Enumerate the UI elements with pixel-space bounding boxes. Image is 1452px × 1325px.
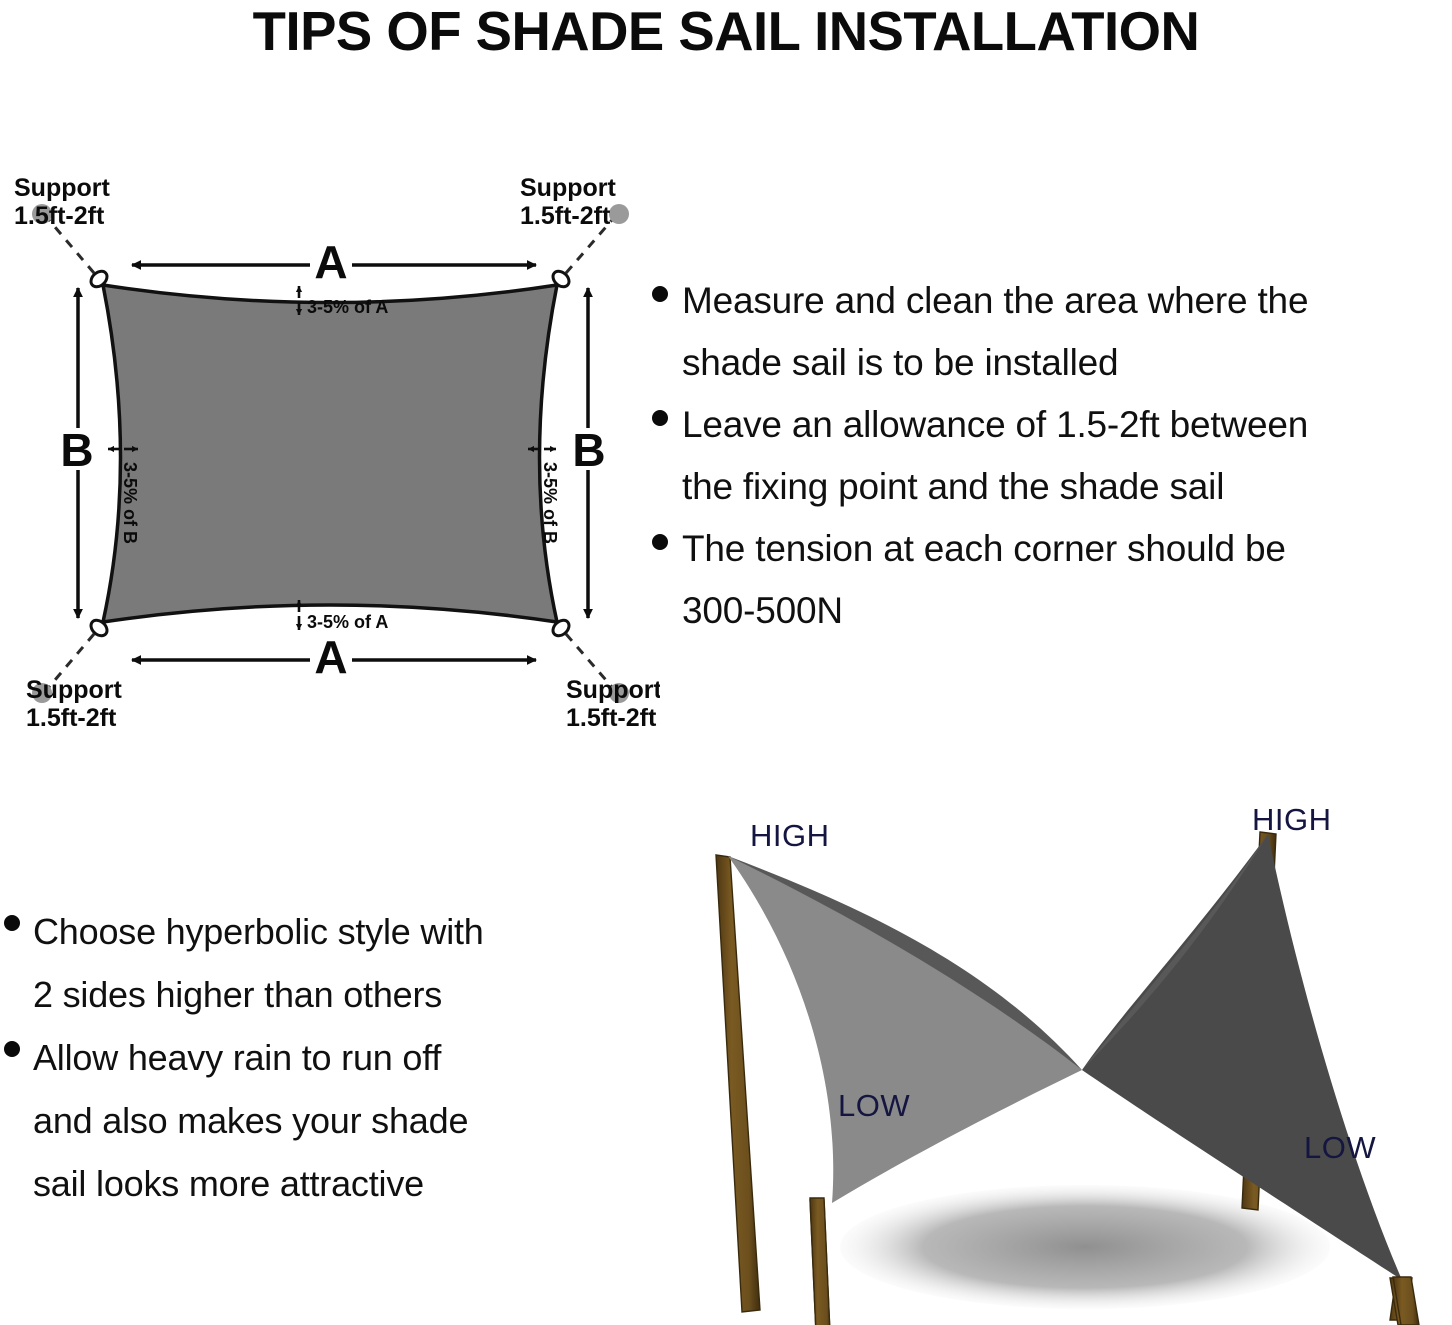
list-item: The tension at each corner should be: [652, 518, 1452, 580]
list-item: Measure and clean the area where the: [652, 270, 1452, 332]
bullet-indent-spacer: [652, 596, 668, 612]
list-item: Leave an allowance of 1.5-2ft between: [652, 394, 1452, 456]
bullet-indent-spacer: [652, 472, 668, 488]
bullet-indent-spacer: [4, 1167, 20, 1183]
list-item-continuation: the fixing point and the shade sail: [652, 456, 1452, 518]
curve-label-left: 3-5% of B: [120, 462, 140, 544]
label-high-left: HIGH: [750, 818, 830, 854]
installation-tips-list-top: Measure and clean the area where the sha…: [652, 270, 1452, 642]
support-label-bottom-left: Support 1.5ft-2ft: [26, 676, 122, 732]
rectangular-sail-diagram: A A B B 3-5% of A 3-5% of A 3-5% of B 3-…: [0, 160, 660, 740]
bullet-line: Measure and clean the area where the: [682, 270, 1308, 332]
support-label-top-left-line1: Support: [14, 174, 110, 202]
label-high-right: HIGH: [1252, 802, 1332, 838]
installation-tips-list-bottom: Choose hyperbolic style with 2 sides hig…: [4, 900, 644, 1215]
bullet-indent-spacer: [652, 348, 668, 364]
bullet-line: The tension at each corner should be: [682, 518, 1286, 580]
dimension-label-b-right: B: [572, 424, 605, 476]
page-title: TIPS OF SHADE SAIL INSTALLATION: [7, 0, 1444, 62]
sail-shape: [103, 285, 557, 622]
bullet-line: shade sail is to be installed: [682, 332, 1118, 394]
dimension-label-a-top: A: [314, 236, 347, 288]
support-label-bottom-right: Support 1.5ft-2ft: [566, 676, 660, 732]
list-item-continuation: and also makes your shade: [4, 1089, 644, 1152]
bullet-dot-icon: [652, 534, 668, 550]
list-item: Allow heavy rain to run off: [4, 1026, 644, 1089]
bullet-line: and also makes your shade: [33, 1089, 468, 1152]
bullet-indent-spacer: [4, 1104, 20, 1120]
list-item-continuation: sail looks more attractive: [4, 1152, 644, 1215]
support-label-top-right-line1: Support: [520, 174, 616, 202]
hyperbolic-sail-diagram: HIGH HIGH LOW LOW: [690, 800, 1452, 1325]
support-label-top-left: Support 1.5ft-2ft: [14, 174, 110, 230]
support-label-bottom-right-line2: 1.5ft-2ft: [566, 704, 657, 732]
support-label-top-right-line2: 1.5ft-2ft: [520, 202, 611, 230]
support-label-top-right: Support 1.5ft-2ft: [520, 174, 616, 230]
bullet-line: Leave an allowance of 1.5-2ft between: [682, 394, 1308, 456]
dimension-label-b-left: B: [60, 424, 93, 476]
infographic-page: TIPS OF SHADE SAIL INSTALLATION: [0, 0, 1452, 1325]
bullet-dot-icon: [652, 286, 668, 302]
list-item-continuation: 2 sides higher than others: [4, 963, 644, 1026]
bullet-dot-icon: [652, 410, 668, 426]
support-label-bottom-left-line1: Support: [26, 676, 122, 704]
support-label-bottom-right-line1: Support: [566, 676, 660, 704]
bullet-dot-icon: [4, 915, 20, 931]
post-low-left-front: [810, 1198, 832, 1325]
bullet-line: Choose hyperbolic style with: [33, 900, 484, 963]
bullet-indent-spacer: [4, 978, 20, 994]
list-item-continuation: shade sail is to be installed: [652, 332, 1452, 394]
list-item-continuation: 300-500N: [652, 580, 1452, 642]
bullet-line: sail looks more attractive: [33, 1152, 424, 1215]
support-label-bottom-left-line2: 1.5ft-2ft: [26, 704, 117, 732]
label-low-left: LOW: [838, 1088, 910, 1124]
bullet-line: 2 sides higher than others: [33, 963, 442, 1026]
list-item: Choose hyperbolic style with: [4, 900, 644, 963]
support-label-top-left-line2: 1.5ft-2ft: [14, 202, 105, 230]
bullet-line: 300-500N: [682, 580, 843, 642]
dimension-label-a-bottom: A: [314, 631, 347, 683]
curve-label-right: 3-5% of B: [540, 462, 560, 544]
bullet-line: the fixing point and the shade sail: [682, 456, 1224, 518]
bullet-line: Allow heavy rain to run off: [33, 1026, 441, 1089]
label-low-right: LOW: [1304, 1130, 1376, 1166]
bullet-dot-icon: [4, 1041, 20, 1057]
curve-label-bottom: 3-5% of A: [307, 612, 388, 632]
curve-label-top: 3-5% of A: [307, 297, 388, 317]
